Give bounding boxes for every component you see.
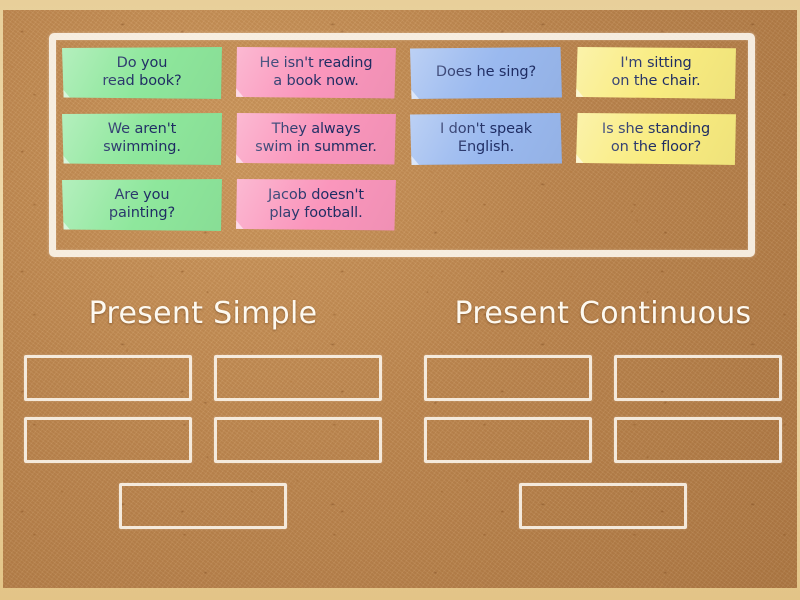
tile-label: He isn't reading a book now. xyxy=(260,55,373,90)
drop-slot[interactable] xyxy=(424,417,592,463)
category-present-continuous: Present Continuous xyxy=(403,296,800,596)
tile-label: Is she standing on the floor? xyxy=(602,121,710,156)
tile-label: Does he sing? xyxy=(436,64,536,82)
drop-slot[interactable] xyxy=(119,483,287,529)
drop-slot[interactable] xyxy=(24,355,192,401)
draggable-tile[interactable]: Does he sing? xyxy=(410,47,562,99)
drop-slot[interactable] xyxy=(214,355,382,401)
draggable-tile[interactable]: Are you painting? xyxy=(62,179,222,231)
tile-label: I don't speak English. xyxy=(440,121,532,156)
draggable-tile[interactable]: We aren't swimming. xyxy=(62,113,222,165)
tile-label: Are you painting? xyxy=(109,187,175,222)
drop-slot[interactable] xyxy=(24,417,192,463)
tile-label: I'm sitting on the chair. xyxy=(611,55,700,90)
category-columns: Present Simple Present Continuous xyxy=(3,296,800,596)
draggable-tile[interactable]: They always swim in summer. xyxy=(236,113,396,165)
draggable-tile[interactable]: Jacob doesn't play football. xyxy=(236,179,396,231)
drop-slot[interactable] xyxy=(519,483,687,529)
draggable-tile[interactable]: He isn't reading a book now. xyxy=(236,47,396,99)
drop-slot-grid xyxy=(417,355,789,529)
tile-label: Do you read book? xyxy=(102,55,181,90)
cork-board-surface: Do you read book? He isn't reading a boo… xyxy=(3,10,797,588)
tile-label: They always swim in summer. xyxy=(255,121,377,156)
drop-slot[interactable] xyxy=(214,417,382,463)
category-present-simple: Present Simple xyxy=(3,296,403,596)
drop-slot-grid xyxy=(17,355,389,529)
category-title: Present Continuous xyxy=(455,296,752,331)
answer-tile-tray: Do you read book? He isn't reading a boo… xyxy=(49,33,755,257)
category-title: Present Simple xyxy=(89,296,318,331)
draggable-tile[interactable]: I don't speak English. xyxy=(410,113,562,165)
tile-label: We aren't swimming. xyxy=(103,121,181,156)
wooden-board-frame: Do you read book? He isn't reading a boo… xyxy=(0,0,800,600)
draggable-tile[interactable]: Do you read book? xyxy=(62,47,222,99)
tile-row-3: Are you painting? Jacob doesn't play foo… xyxy=(56,179,748,235)
draggable-tile[interactable]: Is she standing on the floor? xyxy=(576,113,736,165)
drop-slot[interactable] xyxy=(614,417,782,463)
tile-label: Jacob doesn't play football. xyxy=(268,187,364,222)
drop-slot[interactable] xyxy=(424,355,592,401)
tile-row-2: We aren't swimming. They always swim in … xyxy=(56,113,748,169)
tile-row-1: Do you read book? He isn't reading a boo… xyxy=(56,47,748,103)
draggable-tile[interactable]: I'm sitting on the chair. xyxy=(576,47,736,99)
drop-slot[interactable] xyxy=(614,355,782,401)
